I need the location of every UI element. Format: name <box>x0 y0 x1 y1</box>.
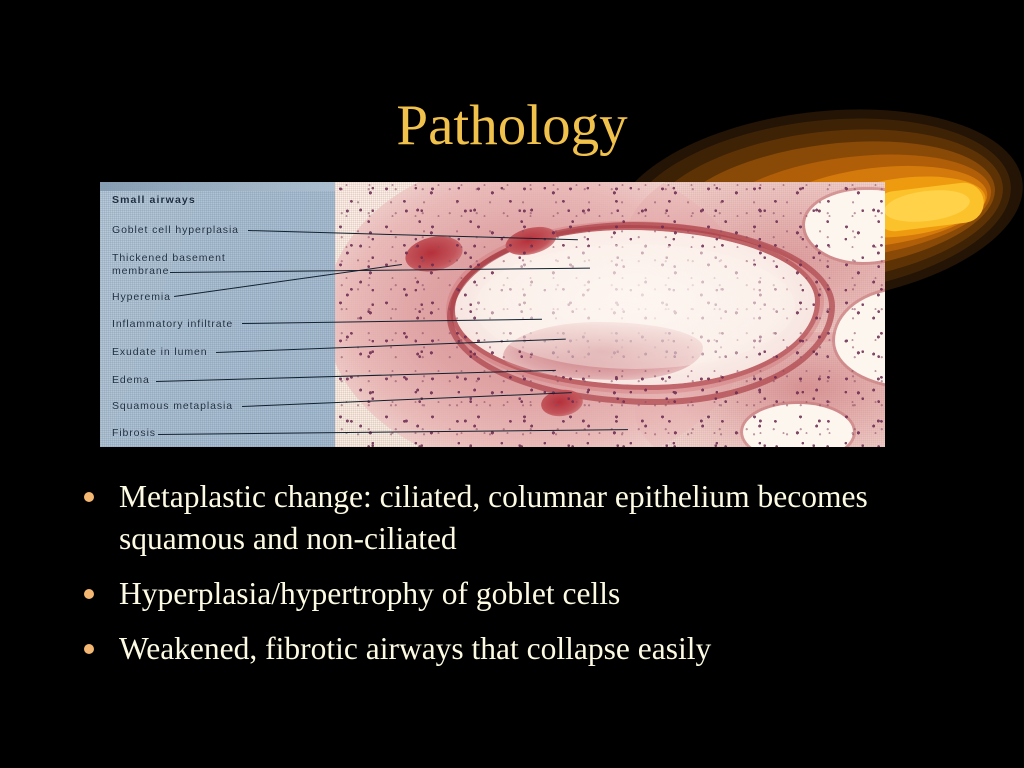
legend-basement-line1: Thickened basement <box>112 252 226 264</box>
lumen-clear-zone <box>475 244 795 369</box>
legend-title: Small airways <box>112 194 196 206</box>
legend-panel-top-band <box>100 182 335 191</box>
legend-inflammatory: Inflammatory infiltrate <box>112 318 233 330</box>
bullet-item-2: Hyperplasia/hypertrophy of goblet cells <box>84 573 984 615</box>
bullet-list: Metaplastic change: ciliated, columnar e… <box>84 476 984 683</box>
legend-hyperemia: Hyperemia <box>112 291 171 303</box>
bullet-item-3: Weakened, fibrotic airways that collapse… <box>84 628 984 670</box>
bullet-text-1: Metaplastic change: ciliated, columnar e… <box>119 476 929 560</box>
legend-basement-line2: membrane <box>112 265 169 277</box>
bullet-dot-icon <box>84 644 94 654</box>
accent-ring-8 <box>872 180 986 233</box>
legend-fibrosis: Fibrosis <box>112 427 156 439</box>
bullet-text-3: Weakened, fibrotic airways that collapse… <box>119 628 711 670</box>
bullet-dot-icon <box>84 492 94 502</box>
figure-legend-panel: Small airways Goblet cell hyperplasia Th… <box>100 182 335 447</box>
accent-ring-core <box>882 186 971 226</box>
micrograph-tissue-area <box>335 182 885 447</box>
bullet-item-1: Metaplastic change: ciliated, columnar e… <box>84 476 984 560</box>
legend-exudate: Exudate in lumen <box>112 346 208 358</box>
histology-figure[interactable]: Small airways Goblet cell hyperplasia Th… <box>100 182 885 447</box>
bullet-dot-icon <box>84 589 94 599</box>
legend-goblet-cell: Goblet cell hyperplasia <box>112 224 239 236</box>
presentation-slide: Pathology Small airways Goble <box>0 0 1024 768</box>
legend-squamous: Squamous metaplasia <box>112 400 233 412</box>
legend-edema: Edema <box>112 374 150 386</box>
slide-title: Pathology <box>0 96 1024 156</box>
bullet-text-2: Hyperplasia/hypertrophy of goblet cells <box>119 573 620 615</box>
